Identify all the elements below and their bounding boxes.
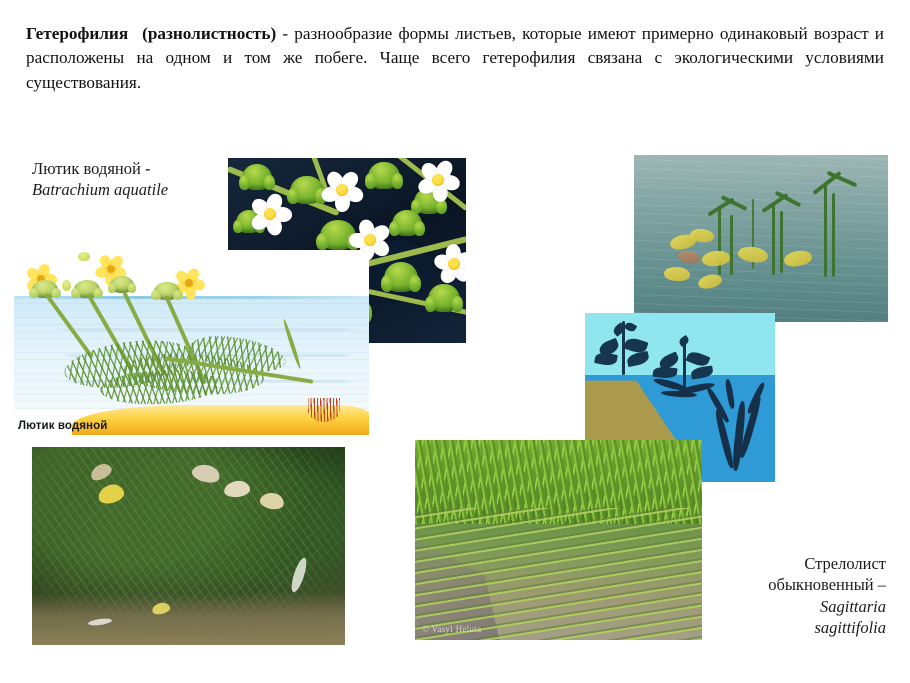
flower-bud <box>78 252 90 261</box>
aerial-leaf <box>110 276 134 293</box>
submerged-ribbon-leaf <box>724 379 735 410</box>
floating-leaf <box>368 162 400 189</box>
floating-leaf <box>242 164 272 190</box>
white-flower <box>250 194 290 234</box>
illustration-batrachium-diagram: Лютик водяной <box>14 250 369 435</box>
term-heterophylly: Гетерофилия <box>26 24 128 43</box>
slide-canvas: Гетерофилия(разнолистность) - разнообраз… <box>0 0 910 683</box>
flower-center <box>336 184 348 196</box>
photo-sagittaria-open-water <box>634 155 888 322</box>
aerial-stalk <box>780 211 783 273</box>
inflorescence <box>624 321 638 333</box>
flower-center <box>264 208 276 220</box>
submerged-ribbon-leaves <box>415 508 702 640</box>
flower-center <box>185 279 193 287</box>
plant-submerged-leaves <box>713 379 769 475</box>
term-parenthetical: (разнолистность) <box>142 24 276 43</box>
photo-batrachium-submerged <box>32 447 345 645</box>
arrow-leaf <box>690 366 713 380</box>
photo-sagittaria-ribbon-leaves: © Vasyl Heluta <box>415 440 702 640</box>
arrow-leaf <box>626 351 650 367</box>
arrow-leaf <box>652 366 677 379</box>
floating-leaf <box>428 284 460 312</box>
flower-center <box>107 265 115 273</box>
aerial-stalk <box>730 215 733 275</box>
flower-center <box>364 234 376 246</box>
floating-leaf <box>290 176 324 204</box>
aerial-stalk <box>824 185 827 277</box>
white-flower <box>322 170 362 210</box>
white-flower <box>418 160 458 200</box>
flower-center <box>448 258 460 270</box>
flower-center <box>432 174 444 186</box>
white-flower <box>434 244 466 284</box>
aerial-stalk <box>832 193 835 277</box>
flower-bud <box>62 280 71 291</box>
caption-sagittaria-common-1: Стрелолист <box>700 553 886 574</box>
caption-ranunculus: Лютик водяной - Batrachium aquatile <box>32 158 232 201</box>
arrow-leaf <box>594 351 618 367</box>
caption-sagittaria-latin-1: Sagittaria <box>700 596 886 617</box>
inflorescence <box>678 335 691 347</box>
caption-sagittaria: Стрелолист обыкновенный – Sagittaria sag… <box>700 553 886 639</box>
caption-ranunculus-common: Лютик водяной - <box>32 158 232 179</box>
photo-watermark: © Vasyl Heluta <box>422 624 481 634</box>
caption-sagittaria-latin-2: sagittifolia <box>700 617 886 638</box>
plant-aerial-leaves <box>595 319 655 381</box>
caption-sagittaria-common-2: обыкновенный – <box>700 574 886 595</box>
floating-leaf <box>392 210 422 236</box>
aerial-stalk <box>772 203 775 275</box>
root-fan <box>308 398 340 422</box>
caption-ranunculus-latin: Batrachium aquatile <box>32 179 232 200</box>
lead-paragraph: Гетерофилия(разнолистность) - разнообраз… <box>26 22 884 95</box>
silt-bottom <box>32 593 345 645</box>
plant-floating-leaves <box>651 335 717 407</box>
floating-leaf <box>384 262 418 292</box>
illustration-inner-label: Лютик водяной <box>18 420 107 432</box>
